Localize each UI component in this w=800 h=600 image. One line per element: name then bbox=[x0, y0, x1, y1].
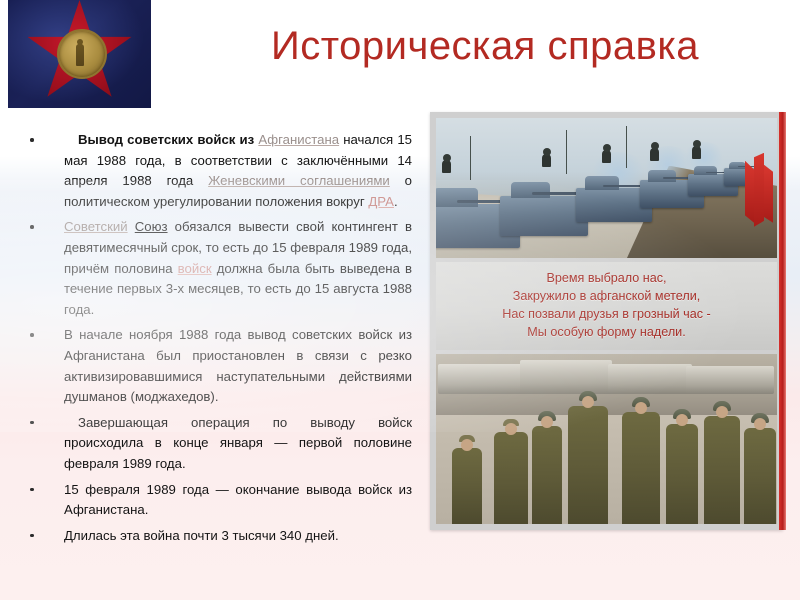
tank-crew bbox=[650, 148, 659, 161]
head bbox=[716, 406, 728, 418]
soldier bbox=[532, 426, 562, 524]
tank-crew bbox=[542, 154, 551, 167]
photo-soldiers-formation bbox=[436, 354, 777, 524]
link-troops[interactable]: войск bbox=[178, 261, 212, 276]
tank-crew bbox=[602, 150, 611, 163]
photo-tank-column bbox=[436, 118, 777, 258]
head bbox=[461, 439, 473, 451]
antenna bbox=[566, 130, 567, 174]
list-item-text: Завершающая операция по выводу войск про… bbox=[64, 415, 412, 471]
head bbox=[676, 414, 688, 426]
vehicle bbox=[608, 364, 692, 394]
soldier-figure-icon bbox=[76, 44, 84, 66]
red-flags-icon bbox=[743, 149, 777, 253]
slide-canvas: Историческая справка Вывод советских вой… bbox=[0, 0, 800, 600]
body-text-column: Вывод советских войск из Афганистана нач… bbox=[22, 130, 412, 551]
order-of-red-star-emblem bbox=[8, 0, 151, 108]
poem-line: Нас позвали друзья в грозный час - bbox=[502, 306, 710, 324]
list-item: 15 февраля 1989 года — окончание вывода … bbox=[22, 480, 412, 521]
head bbox=[505, 423, 517, 435]
soldier bbox=[568, 406, 608, 524]
vehicle bbox=[520, 360, 612, 394]
soldier bbox=[452, 448, 482, 524]
poem-line: Мы особую форму надели. bbox=[527, 324, 685, 342]
soldier bbox=[704, 416, 740, 524]
media-panel: Время выбрало нас, Закружило в афганской… bbox=[430, 112, 783, 530]
vehicle bbox=[438, 364, 524, 394]
soldier bbox=[494, 432, 528, 524]
soldier bbox=[622, 412, 660, 524]
link-union[interactable]: Союз bbox=[135, 219, 168, 234]
bullet-list: Вывод советских войск из Афганистана нач… bbox=[22, 130, 412, 546]
link-dra[interactable]: ДРА bbox=[368, 194, 394, 209]
poem-block: Время выбрало нас, Закружило в афганской… bbox=[436, 262, 777, 350]
link-geneva-accords[interactable]: Женевскими соглашениями bbox=[208, 173, 390, 188]
red-accent-stripe bbox=[779, 112, 786, 530]
list-item: Длилась эта война почти 3 тысячи 340 дне… bbox=[22, 526, 412, 547]
tank bbox=[500, 196, 588, 236]
head bbox=[635, 402, 647, 414]
list-item: Завершающая операция по выводу войск про… bbox=[22, 413, 412, 475]
vehicle bbox=[686, 366, 774, 394]
head bbox=[754, 418, 766, 430]
soldier bbox=[666, 424, 698, 524]
list-item: Советский Союз обязался вывести свой кон… bbox=[22, 217, 412, 320]
antenna bbox=[626, 126, 627, 168]
list-item: Вывод советских войск из Афганистана нач… bbox=[22, 130, 412, 212]
link-afghanistan[interactable]: Афганистана bbox=[258, 132, 339, 147]
head bbox=[582, 396, 594, 408]
list-item-text: Длилась эта война почти 3 тысячи 340 дне… bbox=[64, 528, 339, 543]
link-soviet[interactable]: Советский bbox=[64, 219, 128, 234]
poem-line: Время выбрало нас, bbox=[546, 270, 666, 288]
list-item: В начале ноября 1988 года вывод советски… bbox=[22, 325, 412, 407]
head bbox=[541, 416, 553, 428]
antenna bbox=[470, 136, 471, 180]
soldier bbox=[744, 428, 776, 524]
page-title: Историческая справка bbox=[205, 24, 765, 68]
list-item-text: 15 февраля 1989 года — окончание вывода … bbox=[64, 482, 412, 518]
tank-crew bbox=[442, 160, 451, 173]
list-item-text: В начале ноября 1988 года вывод советски… bbox=[64, 327, 412, 404]
tank-crew bbox=[692, 146, 701, 159]
poem-line: Закружило в афганской метели, bbox=[513, 288, 701, 306]
